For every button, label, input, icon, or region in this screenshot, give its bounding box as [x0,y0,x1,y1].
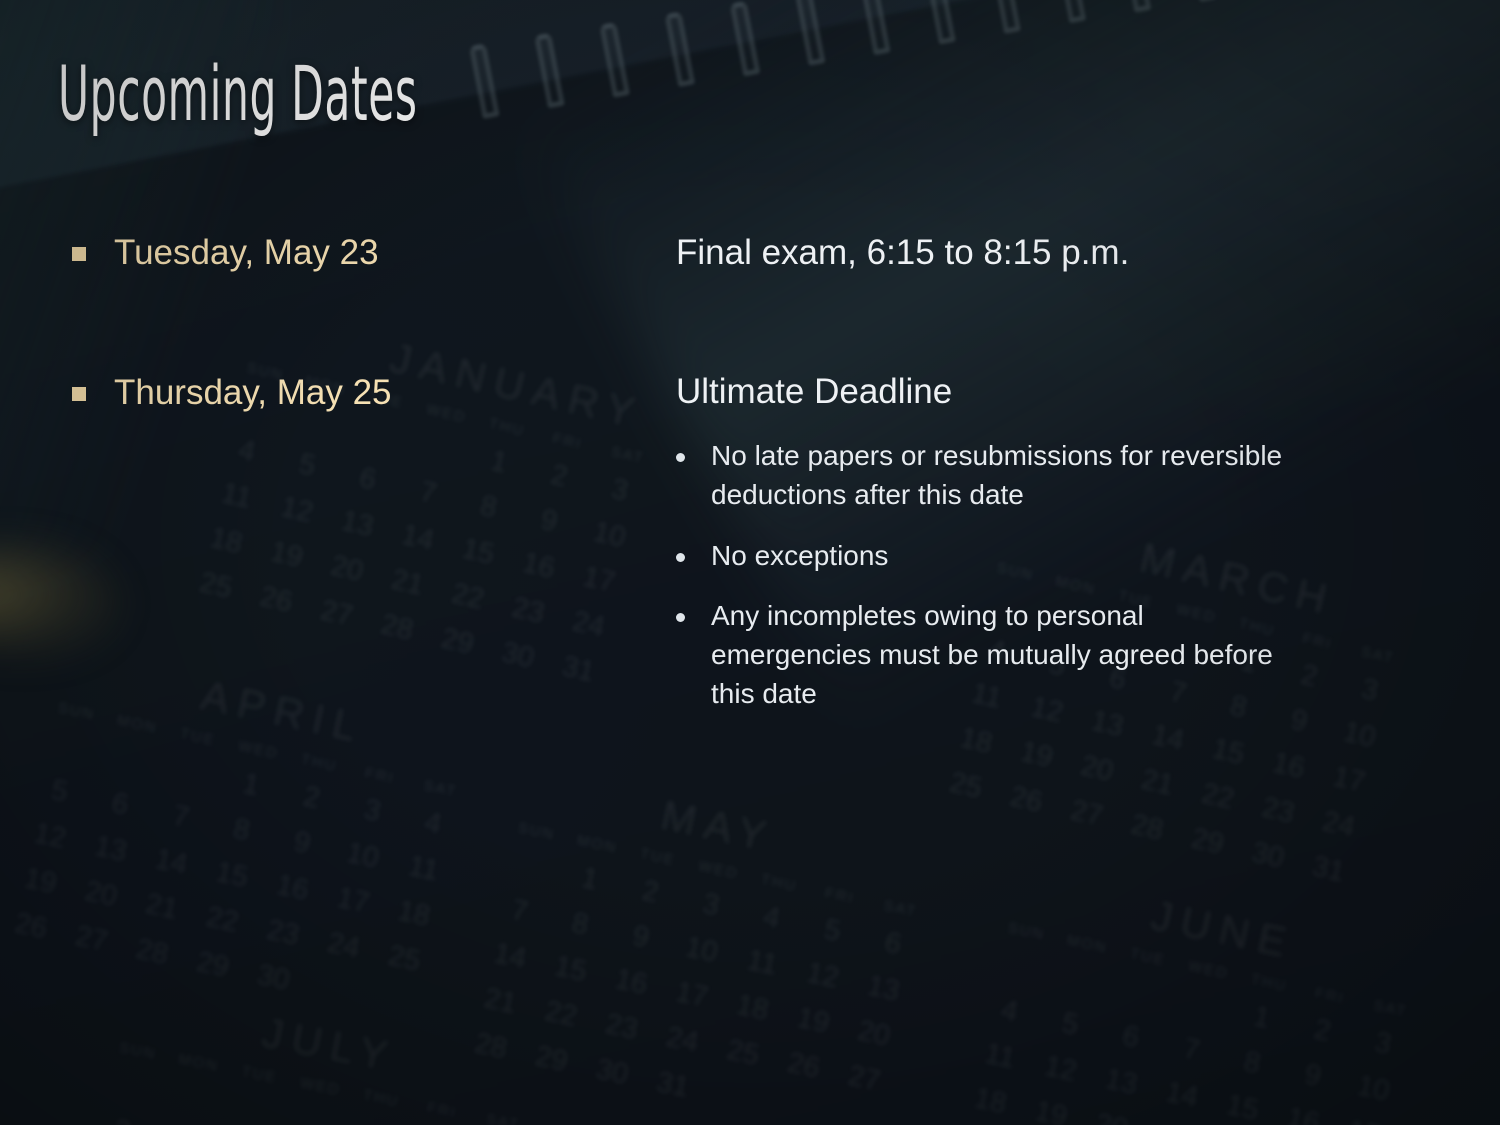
list-item-label: Any incompletes owing to personal emerge… [711,597,1291,713]
dot-bullet-icon [676,553,685,562]
page-title: Upcoming Dates [58,56,418,132]
exam-detail-text: Final exam, 6:15 to 8:15 p.m. [676,232,1336,275]
square-bullet-icon [72,387,86,401]
list-item-label: No late papers or resubmissions for reve… [711,437,1291,514]
date-entry: Tuesday, May 23 [72,232,632,275]
deadline-bullet-list: No late papers or resubmissions for reve… [676,437,1336,713]
background-weekday-label: SAT [471,1108,535,1125]
background-month-block: JUNESUNMONTUEWEDTHUFRISAT123456789101112… [946,860,1435,1125]
deadline-heading: Ultimate Deadline [676,371,1336,414]
list-item: Any incompletes owing to personal emerge… [676,597,1336,713]
dot-bullet-icon [676,453,685,462]
slide-canvas: JANUARYSUNMONTUEWEDTHUFRISAT123456789101… [0,0,1500,1125]
date-label: Tuesday, May 23 [114,232,379,275]
list-item-label: No exceptions [711,537,888,576]
list-item: No exceptions [676,537,1336,576]
details-column: Final exam, 6:15 to 8:15 p.m. Ultimate D… [676,232,1336,735]
date-label: Thursday, May 25 [114,372,392,415]
square-bullet-icon [72,247,86,261]
date-entry: Thursday, May 25 [72,372,632,415]
background-month-block: APRILSUNMONTUEWEDTHUFRISAT12345678910111… [0,640,485,1032]
background-day-blank [218,1081,288,1125]
list-item: No late papers or resubmissions for reve… [676,437,1336,514]
dates-column: Tuesday, May 23 Thursday, May 25 [72,232,632,511]
background-day-grid: 1234567891011121314151617181920212223242… [0,717,468,1032]
dot-bullet-icon [676,613,685,622]
